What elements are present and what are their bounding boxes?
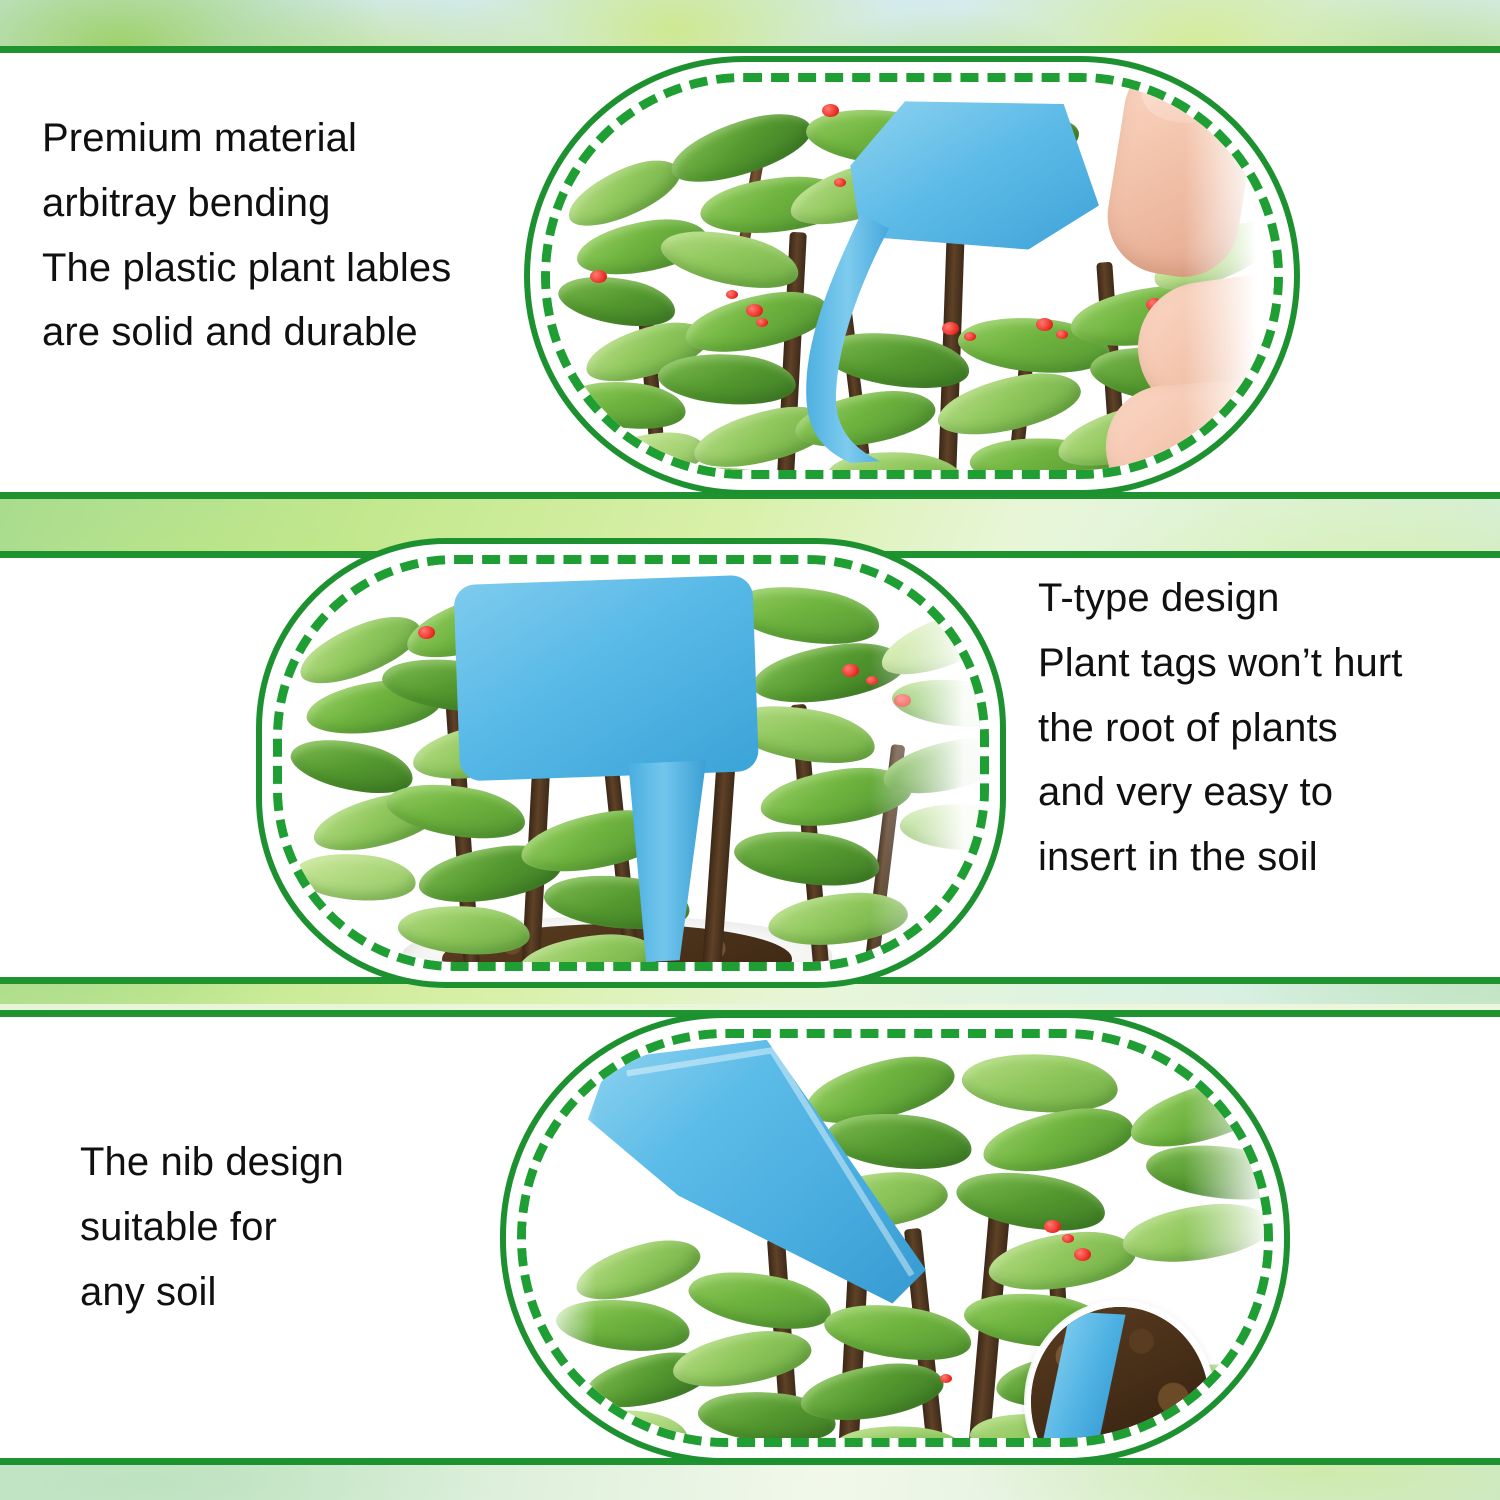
panel-1-text: Premium material arbitray bending The pl… xyxy=(42,106,562,365)
panel-2-photo xyxy=(282,564,980,962)
panel-3-dashed-border xyxy=(517,1029,1273,1447)
panel-2-photo-frame xyxy=(256,538,1006,988)
panel-3-photo xyxy=(526,1038,1264,1438)
panel-3-inset-photo xyxy=(1026,1302,1214,1438)
panel-1-photo-frame xyxy=(524,56,1300,496)
panel-3-photo-frame xyxy=(500,1012,1290,1464)
panel-2-dashed-border xyxy=(273,555,989,971)
panel-3-text: The nib design suitable for any soil xyxy=(80,1130,500,1324)
panel-1-photo xyxy=(550,82,1274,470)
panel-2-text: T-type design Plant tags won’t hurt the … xyxy=(1038,566,1488,890)
panel-1-dashed-border xyxy=(541,73,1283,479)
